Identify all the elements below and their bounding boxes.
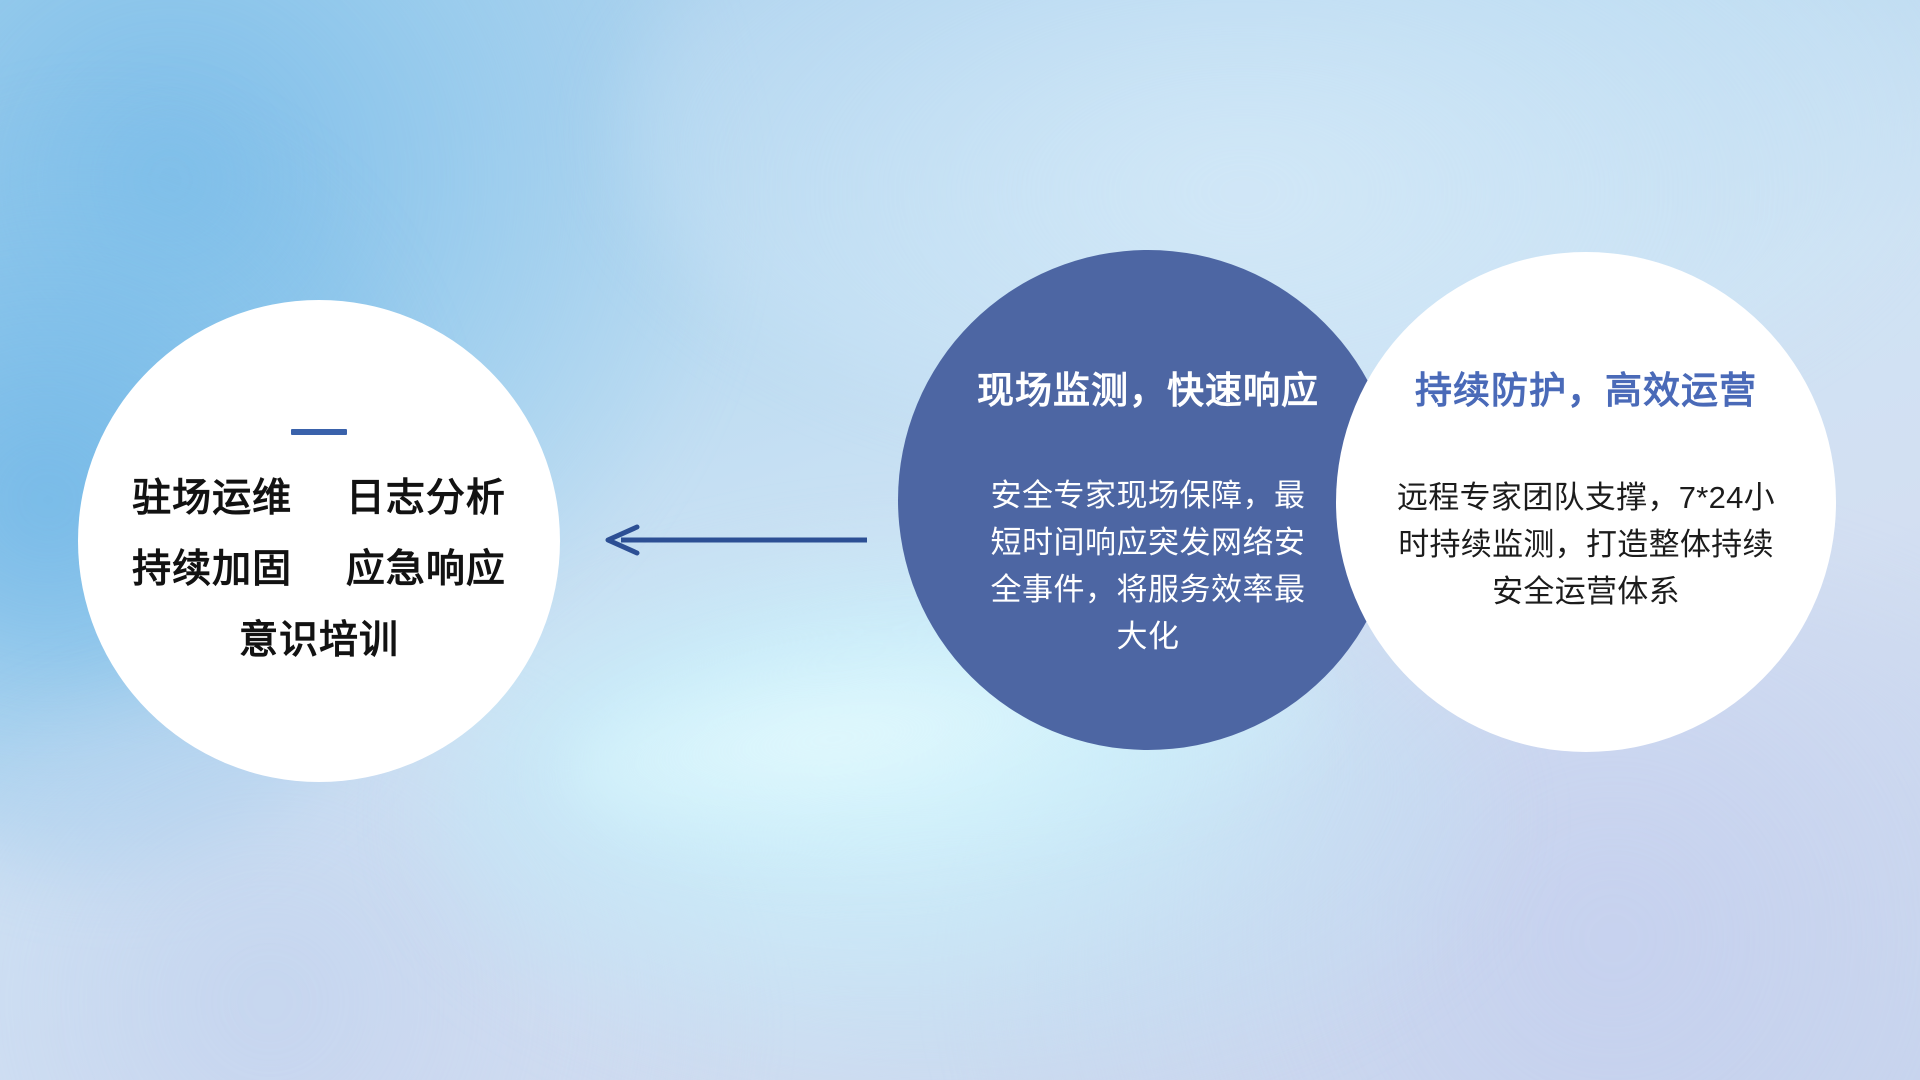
capability-row: 意识培训 — [239, 621, 399, 660]
continuous-protection-circle: 持续防护，高效运营 远程专家团队支撑，7*24小时持续监测，打造整体持续安全运营… — [1336, 252, 1836, 752]
horizontal-dash-divider-icon — [291, 429, 347, 435]
capability-label: 持续加固 — [132, 548, 292, 591]
capability-row: 持续加固 应急响应 — [132, 550, 506, 589]
onsite-monitoring-heading: 现场监测，快速响应 — [977, 360, 1319, 414]
continuous-protection-body: 远程专家团队支撑，7*24小时持续监测，打造整体持续安全运营体系 — [1386, 474, 1786, 615]
capability-label: 应急响应 — [346, 548, 506, 591]
infographic-canvas: 驻场运维 日志分析 持续加固 应急响应 意识培训 现场监测，快速响应 安全专家现… — [0, 0, 1920, 1080]
capability-label: 驻场运维 — [132, 477, 292, 520]
capability-label: 日志分析 — [346, 477, 506, 520]
capability-row: 驻场运维 日志分析 — [132, 479, 506, 518]
continuous-protection-heading: 持续防护，高效运营 — [1415, 360, 1757, 414]
capability-label: 意识培训 — [239, 619, 399, 662]
arrow-left-icon — [595, 512, 875, 568]
capability-keywords-circle: 驻场运维 日志分析 持续加固 应急响应 意识培训 — [78, 300, 560, 782]
onsite-monitoring-circle: 现场监测，快速响应 安全专家现场保障，最短时间响应突发网络安全事件，将服务效率最… — [898, 250, 1398, 750]
onsite-monitoring-body: 安全专家现场保障，最短时间响应突发网络安全事件，将服务效率最大化 — [978, 472, 1318, 660]
